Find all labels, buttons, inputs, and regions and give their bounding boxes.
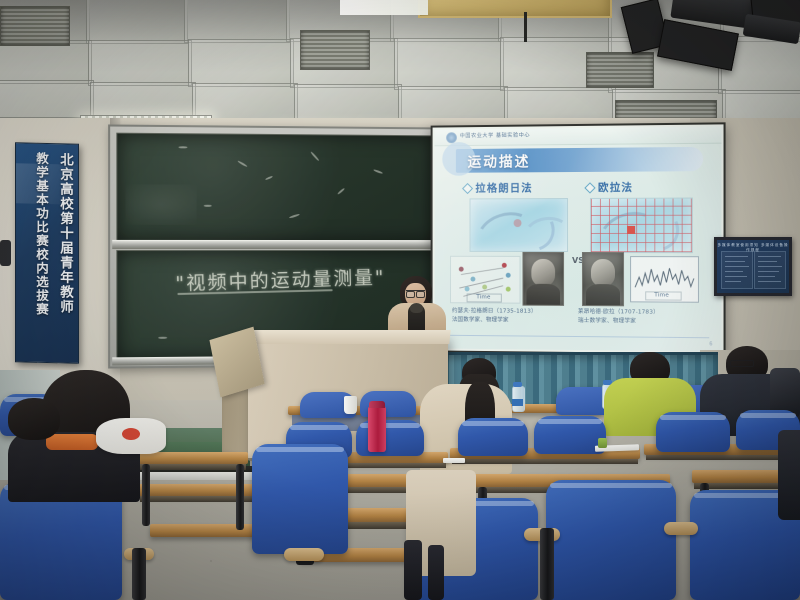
ceiling-warm-panel (418, 0, 612, 18)
seat-row1-right[interactable] (546, 480, 676, 600)
bottle-cap (513, 382, 522, 387)
slide-left-section-title: 拉格朗日法 (475, 180, 532, 195)
seat-post (540, 528, 554, 600)
ceiling-vent (0, 6, 70, 46)
seat-armrest (284, 548, 324, 561)
blackboard-chalk-title: "视频中的运动量测量" (175, 263, 376, 303)
highlighted-grid-cell (627, 226, 635, 234)
seat-armrest (664, 522, 698, 535)
traj-axis-label: Time (476, 293, 490, 301)
student-right-edge-arm (778, 430, 800, 520)
banner-text-left: 教学基本功比赛校内选拔赛 (22, 151, 48, 357)
desk-row2-far-right-edge (646, 455, 800, 460)
particle-trajectory-diagram: Time (450, 256, 520, 304)
glasses-icon (730, 360, 754, 367)
bullet-diamond-icon (462, 183, 473, 194)
seat-row1-center[interactable] (252, 444, 348, 554)
ceiling-vent (586, 52, 654, 88)
desk-leg (236, 464, 244, 530)
presentation-slide: 中国农业大学 基础实验中心 运动描述 拉格朗日法 欧拉法 (435, 126, 722, 351)
projection-screen: 中国农业大学 基础实验中心 运动描述 拉格朗日法 欧拉法 (431, 122, 726, 355)
euler-grid-overlay (591, 199, 692, 253)
desk-row2-right-edge (452, 459, 638, 464)
paper-sheet (443, 458, 465, 463)
euler-portrait (582, 252, 624, 306)
slide-header-text: 中国农业大学 基础实验中心 (460, 131, 530, 139)
seat-row2[interactable] (458, 418, 528, 456)
lagrange-caption-line2: 法国数学家、物理学家 (452, 316, 509, 324)
euler-caption-line2: 瑞士数学家、物理学家 (578, 317, 636, 326)
door-handle (0, 240, 11, 266)
lagrange-portrait (522, 252, 564, 306)
ceiling (0, 0, 800, 132)
eulerian-grid-image (590, 198, 693, 254)
ceiling-vent (300, 30, 370, 70)
desk-leg (142, 464, 150, 526)
red-thermos (368, 406, 386, 452)
bullet-diamond-icon (584, 182, 595, 193)
seat-row2[interactable] (656, 412, 730, 452)
competition-banner: 北京高校第十届青年教师 教学基本功比赛校内选拔赛 (15, 142, 79, 364)
student-leg-dark (404, 540, 422, 600)
slide-page-number: 6 (709, 341, 712, 347)
euler-caption-line1: 莱昂哈德·欧拉（1707-1783） (578, 308, 659, 317)
banner-text-right: 北京高校第十届青年教师 (46, 152, 72, 358)
student-mid-left-head (8, 398, 60, 440)
seat-row2[interactable] (356, 420, 424, 456)
wall-notice-board: 多媒体教室使用须知 多媒体设备操作规程 (714, 237, 792, 296)
slide-bottom-rule (448, 335, 709, 338)
bag-red-mark (122, 428, 140, 440)
student-front-left-orange-collar (46, 434, 98, 450)
slide-title: 运动描述 (468, 151, 531, 171)
time-series-plot: Time (630, 256, 699, 303)
lagrange-caption-line1: 约瑟夫·拉格朗日（1735-1813） (452, 307, 537, 316)
glasses-icon (406, 290, 425, 296)
white-cup (344, 396, 357, 414)
student-leg-dark (428, 545, 444, 600)
small-green-object (598, 438, 607, 448)
seat-post (132, 548, 146, 600)
bottle-label (512, 399, 523, 406)
slide-right-section-title: 欧拉法 (598, 180, 633, 195)
podium-top (247, 330, 450, 344)
lecture-hall-photo: 北京高校第十届青年教师 教学基本功比赛校内选拔赛 "视频中的运动量测量" (0, 0, 800, 600)
plot-axis-label: Time (654, 291, 669, 299)
presenter-collar (410, 303, 423, 313)
thermos-cap (369, 401, 385, 408)
blackboard-panel-top (116, 133, 436, 242)
lagrangian-wave-image (470, 198, 569, 252)
